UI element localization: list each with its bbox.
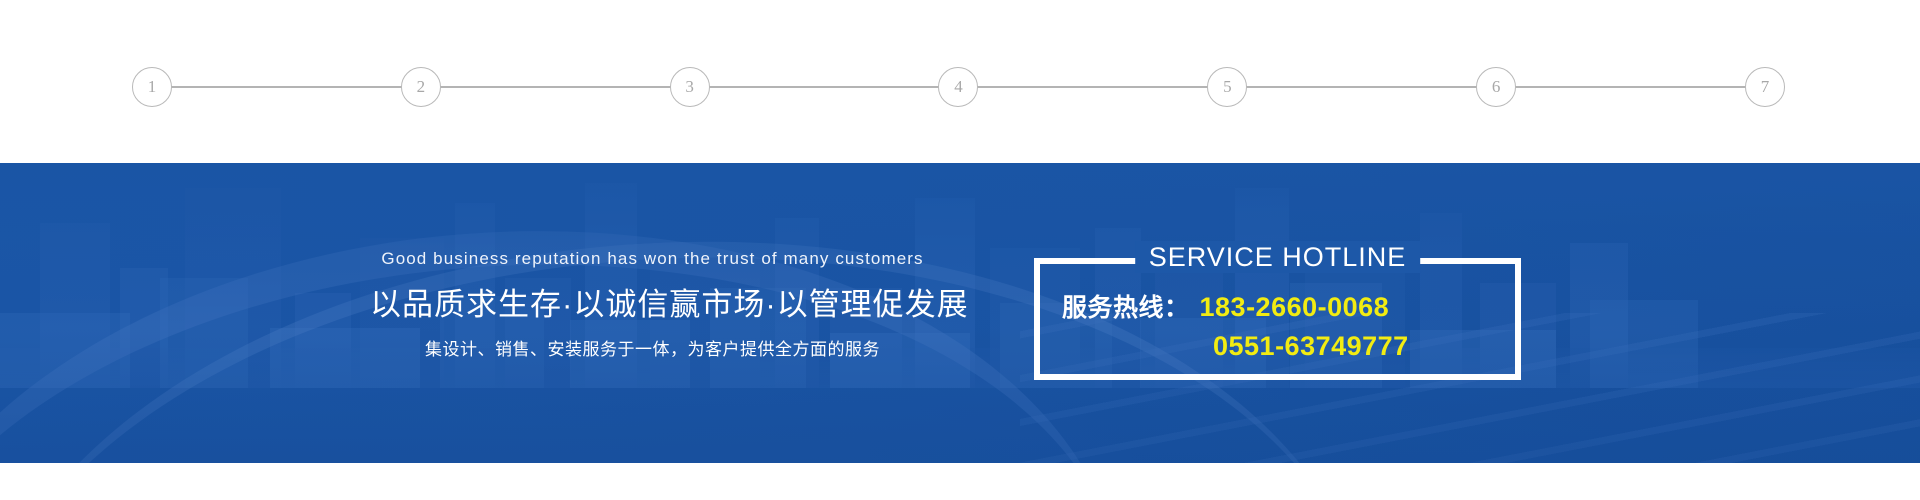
slogan-chinese-main: 以品质求生存·以诚信赢市场·以管理促发展 bbox=[370, 286, 935, 323]
page-step-label: 7 bbox=[1761, 77, 1770, 97]
pagination-steps: 1 2 3 4 5 6 7 bbox=[132, 67, 1785, 107]
page-step-3[interactable]: 3 bbox=[670, 67, 710, 107]
page-step-label: 5 bbox=[1223, 77, 1232, 97]
slogan-block: Good business reputation has won the tru… bbox=[370, 249, 935, 360]
page-step-label: 3 bbox=[685, 77, 694, 97]
blue-banner: Good business reputation has won the tru… bbox=[0, 163, 1920, 463]
slogan-english: Good business reputation has won the tru… bbox=[370, 249, 935, 269]
hotline-row-secondary: 0551-63749777 bbox=[1062, 327, 1521, 365]
page-step-6[interactable]: 6 bbox=[1476, 67, 1516, 107]
hotline-label: 服务热线： bbox=[1062, 289, 1190, 327]
page-step-label: 1 bbox=[148, 77, 157, 97]
hotline-row-primary: 服务热线： 183-2660-0068 bbox=[1062, 288, 1521, 327]
service-hotline-box: SERVICE HOTLINE 服务热线： 183-2660-0068 0551… bbox=[1034, 258, 1521, 380]
page-step-label: 6 bbox=[1492, 77, 1501, 97]
page-root: 1 2 3 4 5 6 7 Good business reputation h… bbox=[0, 0, 1920, 500]
page-step-5[interactable]: 5 bbox=[1207, 67, 1247, 107]
hotline-number-primary[interactable]: 183-2660-0068 bbox=[1200, 288, 1390, 326]
hotline-number-secondary[interactable]: 0551-63749777 bbox=[1213, 327, 1409, 365]
hotline-title: SERVICE HOTLINE bbox=[1135, 241, 1421, 273]
page-step-7[interactable]: 7 bbox=[1745, 67, 1785, 107]
page-step-2[interactable]: 2 bbox=[401, 67, 441, 107]
pagination-strip: 1 2 3 4 5 6 7 bbox=[0, 0, 1920, 163]
page-step-label: 2 bbox=[417, 77, 426, 97]
page-step-4[interactable]: 4 bbox=[938, 67, 978, 107]
page-step-label: 4 bbox=[954, 77, 963, 97]
slogan-chinese-sub: 集设计、销售、安装服务于一体，为客户提供全方面的服务 bbox=[370, 340, 935, 360]
hotline-numbers: 服务热线： 183-2660-0068 0551-63749777 bbox=[1034, 288, 1521, 365]
page-step-1[interactable]: 1 bbox=[132, 67, 172, 107]
